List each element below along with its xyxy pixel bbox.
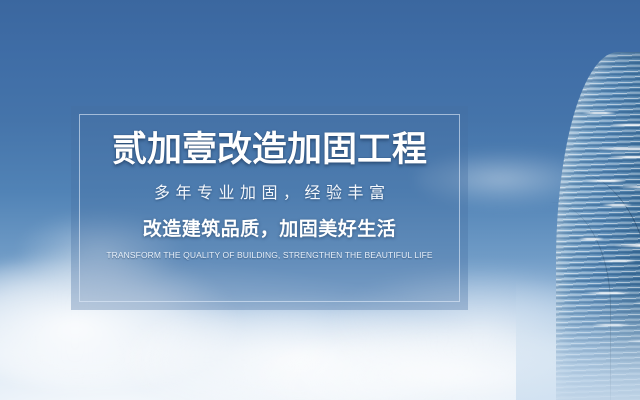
window-reflection-streak: [592, 324, 630, 326]
skyscraper-figure: [516, 52, 640, 400]
banner-subline-secondary: 改造建筑品质，加固美好生活: [143, 220, 397, 239]
headline-text-stack: 贰加壹改造加固工程 多年专业加固，经验丰富 改造建筑品质，加固美好生活 TRAN…: [71, 106, 468, 310]
window-reflection-streak: [600, 260, 636, 262]
banner-subline-english: TRANSFORM THE QUALITY OF BUILDING, STREN…: [106, 251, 432, 260]
window-reflection-streak: [594, 148, 640, 150]
hero-banner: 贰加壹改造加固工程 多年专业加固，经验丰富 改造建筑品质，加固美好生活 TRAN…: [0, 0, 640, 400]
window-reflection-streak: [578, 238, 604, 240]
headline-panel: 贰加壹改造加固工程 多年专业加固，经验丰富 改造建筑品质，加固美好生活 TRAN…: [71, 106, 468, 310]
window-reflection-streak: [586, 180, 626, 182]
window-reflection-streak: [634, 302, 640, 304]
window-reflection-streak: [586, 292, 630, 294]
banner-subline-primary: 多年专业加固，经验丰富: [148, 186, 390, 202]
window-reflection-streak: [626, 340, 640, 342]
window-reflection-streak: [582, 112, 616, 114]
window-reflection-streak: [618, 186, 640, 188]
window-reflection-streak: [602, 204, 632, 206]
window-reflection-streak: [614, 244, 640, 247]
window-reflection-streak: [608, 156, 640, 158]
curved-glass-skyscraper: [556, 52, 640, 400]
window-reflection-streak: [610, 124, 640, 126]
banner-headline: 贰加壹改造加固工程: [112, 132, 427, 167]
